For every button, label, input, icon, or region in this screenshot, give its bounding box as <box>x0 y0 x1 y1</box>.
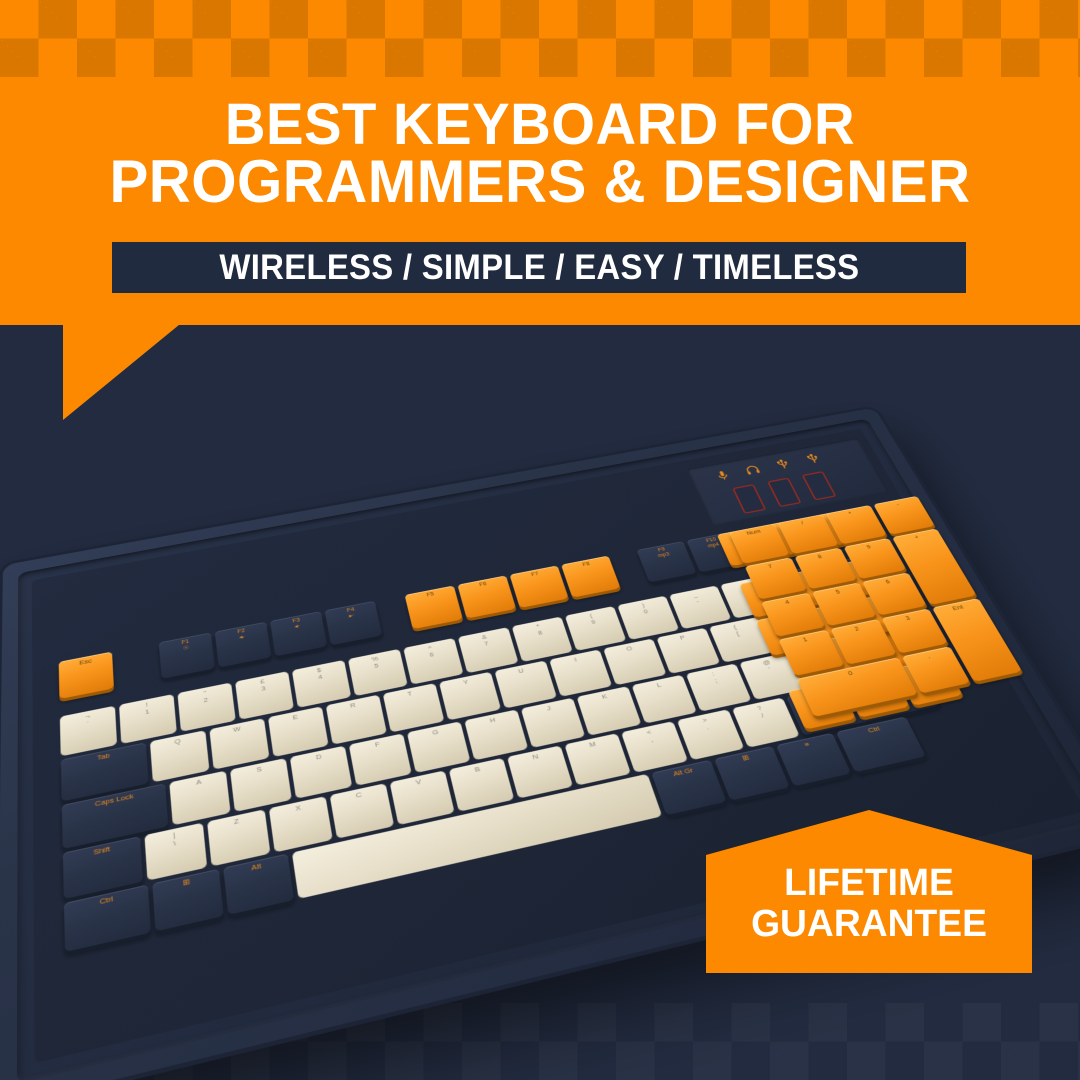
keycap-label: * <box>848 511 853 517</box>
keycap-label: O <box>626 645 634 652</box>
keycap-label: F8 <box>582 562 591 568</box>
lifetime-guarantee-badge: LIFETIME GUARANTEE <box>706 810 1032 973</box>
keycap-label: 7 <box>767 564 773 570</box>
keycap-label: 6 <box>884 579 891 586</box>
keycap-label: Y <box>463 679 470 687</box>
badge-text: LIFETIME GUARANTEE <box>709 863 1028 945</box>
header-banner: BEST KEYBOARD FOR PROGRAMMERS & DESIGNER… <box>0 0 1080 325</box>
keycap-label: F9 mp3 <box>655 547 670 559</box>
keycap-label: { [ <box>732 624 740 637</box>
keycap-label: I <box>574 657 578 664</box>
keycap-label: F7 <box>531 571 540 577</box>
keycap-label: + <box>914 534 921 540</box>
keycap-label: / <box>800 520 805 526</box>
keycap-label: - <box>895 502 900 508</box>
title-line-2: PROGRAMMERS & DESIGNER <box>16 153 1064 210</box>
keycap-label: F1 ☉ <box>181 639 190 652</box>
keycap-label: Num <box>746 529 762 537</box>
speech-bubble-tail <box>0 320 200 425</box>
subtitle-bar: WIRELESS / SIMPLE / EASY / TIMELESS <box>112 242 966 293</box>
keycap-label: Ent <box>951 604 964 612</box>
keycap-label: @ ' <box>762 659 775 673</box>
page-title: BEST KEYBOARD FOR PROGRAMMERS & DESIGNER <box>16 96 1064 210</box>
keycap-label: 2 <box>853 626 860 633</box>
keycap-label: F3 ◂· <box>292 618 301 630</box>
keycap-label: Esc <box>79 658 92 667</box>
keycap-label: U <box>518 668 525 676</box>
keyboard-body: EscF1 ☉F2 ◂-F3 ◂·F4 ▸·F5F6F7F8F9 mp3F10 … <box>0 408 1080 1080</box>
poster-canvas: EscF1 ☉F2 ◂-F3 ◂·F4 ▸·F5F6F7F8F9 mp3F10 … <box>0 0 1080 1080</box>
keycap-label: $ 4 <box>316 667 322 681</box>
keycap-label: % 5 <box>371 656 380 670</box>
keycap-label: F4 ▸· <box>347 607 356 619</box>
keycap-label: : ; <box>711 671 718 685</box>
keycap-label: P <box>679 635 686 642</box>
keycap-label: F6 <box>479 581 487 588</box>
keycap-label: . <box>926 653 931 660</box>
keycap-label: 0 <box>847 670 854 677</box>
keycap-label: & 7 <box>481 634 489 648</box>
keycap-label: 1 <box>802 637 809 644</box>
keycap-label: 9 <box>865 544 872 550</box>
keycap-label: 4 <box>784 599 791 606</box>
keycap-label: 3 <box>904 615 911 622</box>
keycap-label: * 8 <box>535 623 543 636</box>
keycap-label: ^ 6 <box>427 645 434 659</box>
badge-line-1: LIFETIME <box>709 863 1028 904</box>
keycap-label: F5 <box>426 592 434 599</box>
keycap-label: 8 <box>816 554 823 560</box>
top-checker-pattern <box>0 0 1080 77</box>
subtitle-text: WIRELESS / SIMPLE / EASY / TIMELESS <box>219 248 859 288</box>
title-line-1: BEST KEYBOARD FOR <box>16 96 1064 153</box>
keycap-label: 5 <box>835 589 842 596</box>
headphone-icon <box>744 464 762 478</box>
keycap-label: _ - <box>692 592 701 605</box>
keycap-label: F2 ◂- <box>237 628 246 640</box>
badge-line-2: GUARANTEE <box>709 904 1028 945</box>
keycap-label: ( 9 <box>588 613 596 626</box>
keycap-label: ) 0 <box>640 602 648 615</box>
